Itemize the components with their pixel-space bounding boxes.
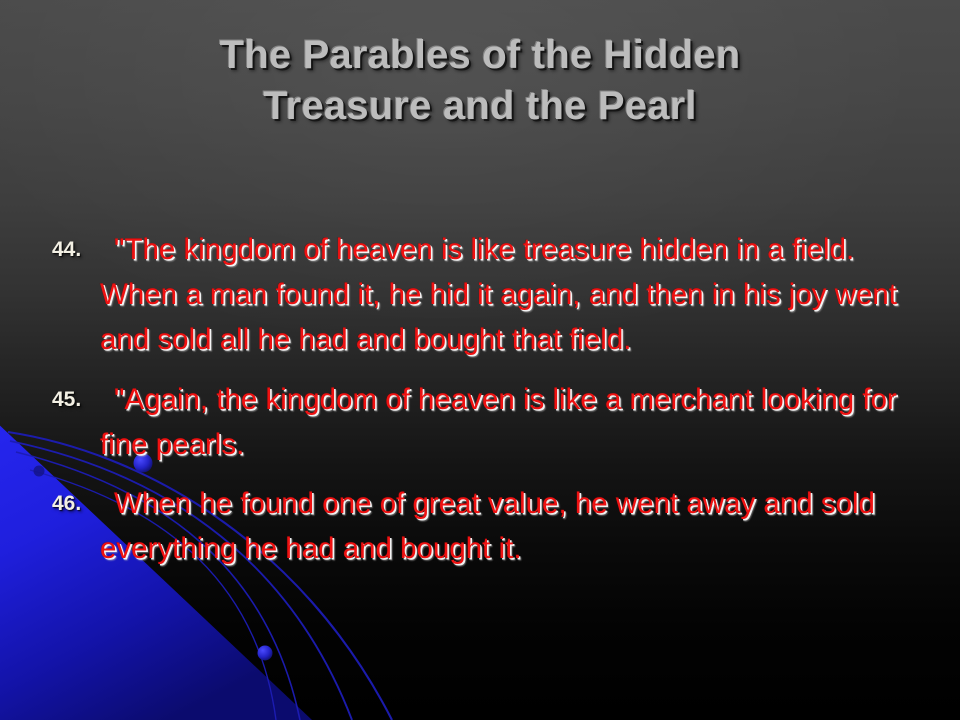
verse-number: 45. [52,378,100,410]
verse-number: 46. [52,482,100,514]
verse-list: 44. "The kingdom of heaven is like treas… [52,228,922,582]
verse-item-44: 44. "The kingdom of heaven is like treas… [52,228,922,362]
presentation-slide: The Parables of the Hidden Treasure and … [0,0,960,720]
slide-title-line-2: Treasure and the Pearl [78,81,882,132]
verse-item-45: 45. "Again, the kingdom of heaven is lik… [52,378,922,468]
verse-text: When he found one of great value, he wen… [100,482,922,572]
verse-number: 44. [52,228,100,260]
slide-title-line-1: The Parables of the Hidden [78,30,882,81]
decor-dot-small [34,466,45,477]
slide-title: The Parables of the Hidden Treasure and … [78,30,882,132]
verse-text: "The kingdom of heaven is like treasure … [100,228,922,362]
verse-item-46: 46. When he found one of great value, he… [52,482,922,572]
decor-dot-medium [258,646,273,661]
verse-text: "Again, the kingdom of heaven is like a … [100,378,922,468]
